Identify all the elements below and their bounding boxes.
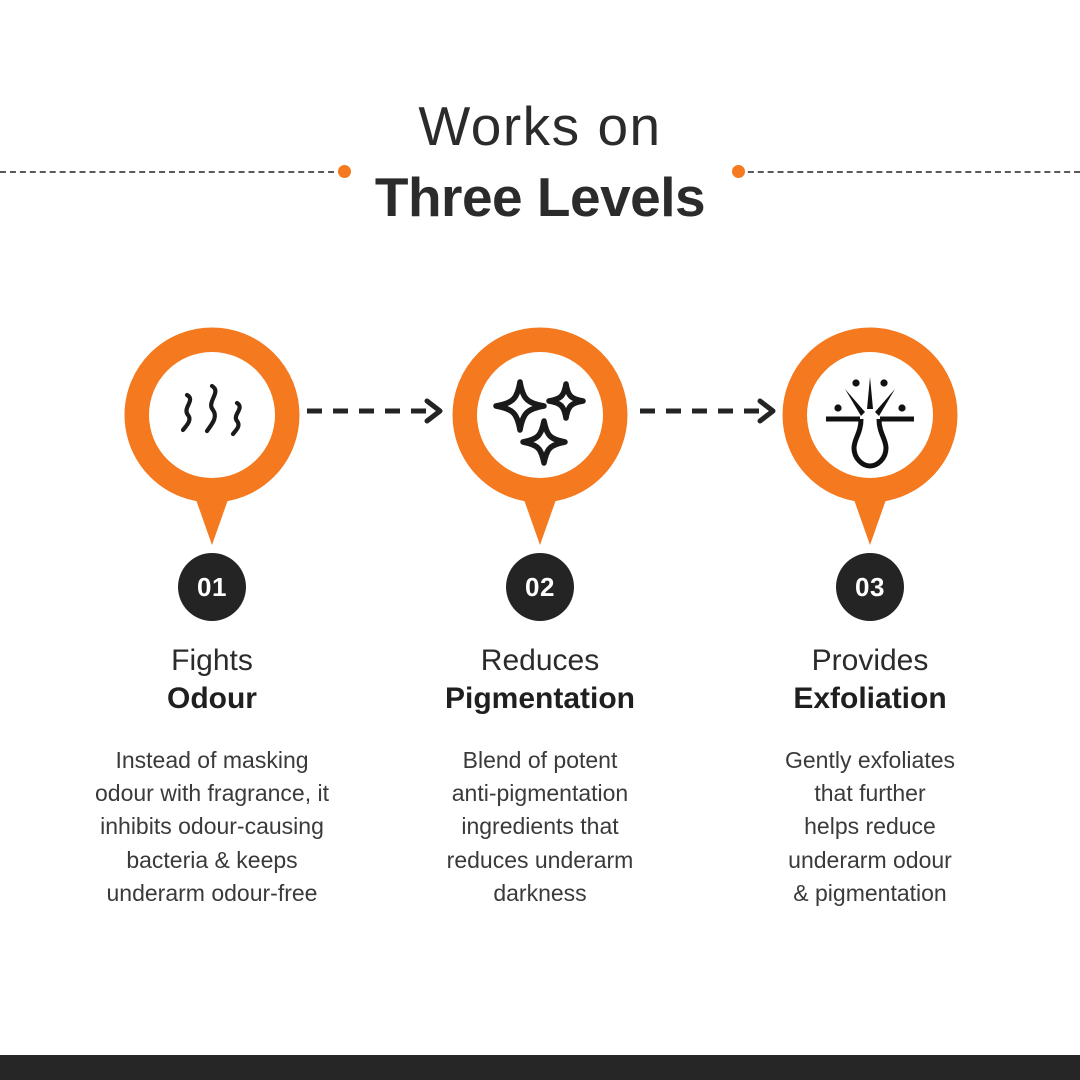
pin-marker-2 [452, 327, 628, 545]
step-heading-3: Provides Exfoliation [700, 644, 1040, 715]
step-number-badge-3: 03 [836, 553, 904, 621]
step-heading-2: Reduces Pigmentation [370, 644, 710, 715]
pin-marker-3 [782, 327, 958, 545]
step-card-1[interactable]: 01 Fights Odour Instead of masking odour… [42, 327, 382, 910]
step-heading-bold-3: Exfoliation [700, 682, 1040, 716]
pin-marker-1 [124, 327, 300, 545]
infographic-canvas: Works on Three Levels [0, 0, 1080, 1080]
step-heading-bold-2: Pigmentation [370, 682, 710, 716]
step-number-badge-2: 02 [506, 553, 574, 621]
step-description-1: Instead of masking odour with fragrance,… [36, 744, 388, 910]
bottom-bar [0, 1055, 1080, 1080]
step-heading-light-2: Reduces [370, 644, 710, 678]
page-title: Works on Three Levels [0, 98, 1080, 232]
step-card-3[interactable]: 03 Provides Exfoliation Gently exfoliate… [700, 327, 1040, 910]
title-line-2: Three Levels [0, 163, 1080, 232]
step-description-3: Gently exfoliates that further helps red… [700, 744, 1040, 910]
title-line-1: Works on [0, 98, 1080, 156]
step-heading-1: Fights Odour [42, 644, 382, 715]
step-heading-bold-1: Odour [42, 682, 382, 716]
step-description-2: Blend of potent anti-pigmentation ingred… [370, 744, 710, 910]
step-heading-light-1: Fights [42, 644, 382, 678]
step-number-badge-1: 01 [178, 553, 246, 621]
step-card-2[interactable]: 02 Reduces Pigmentation Blend of potent … [370, 327, 710, 910]
step-heading-light-3: Provides [700, 644, 1040, 678]
